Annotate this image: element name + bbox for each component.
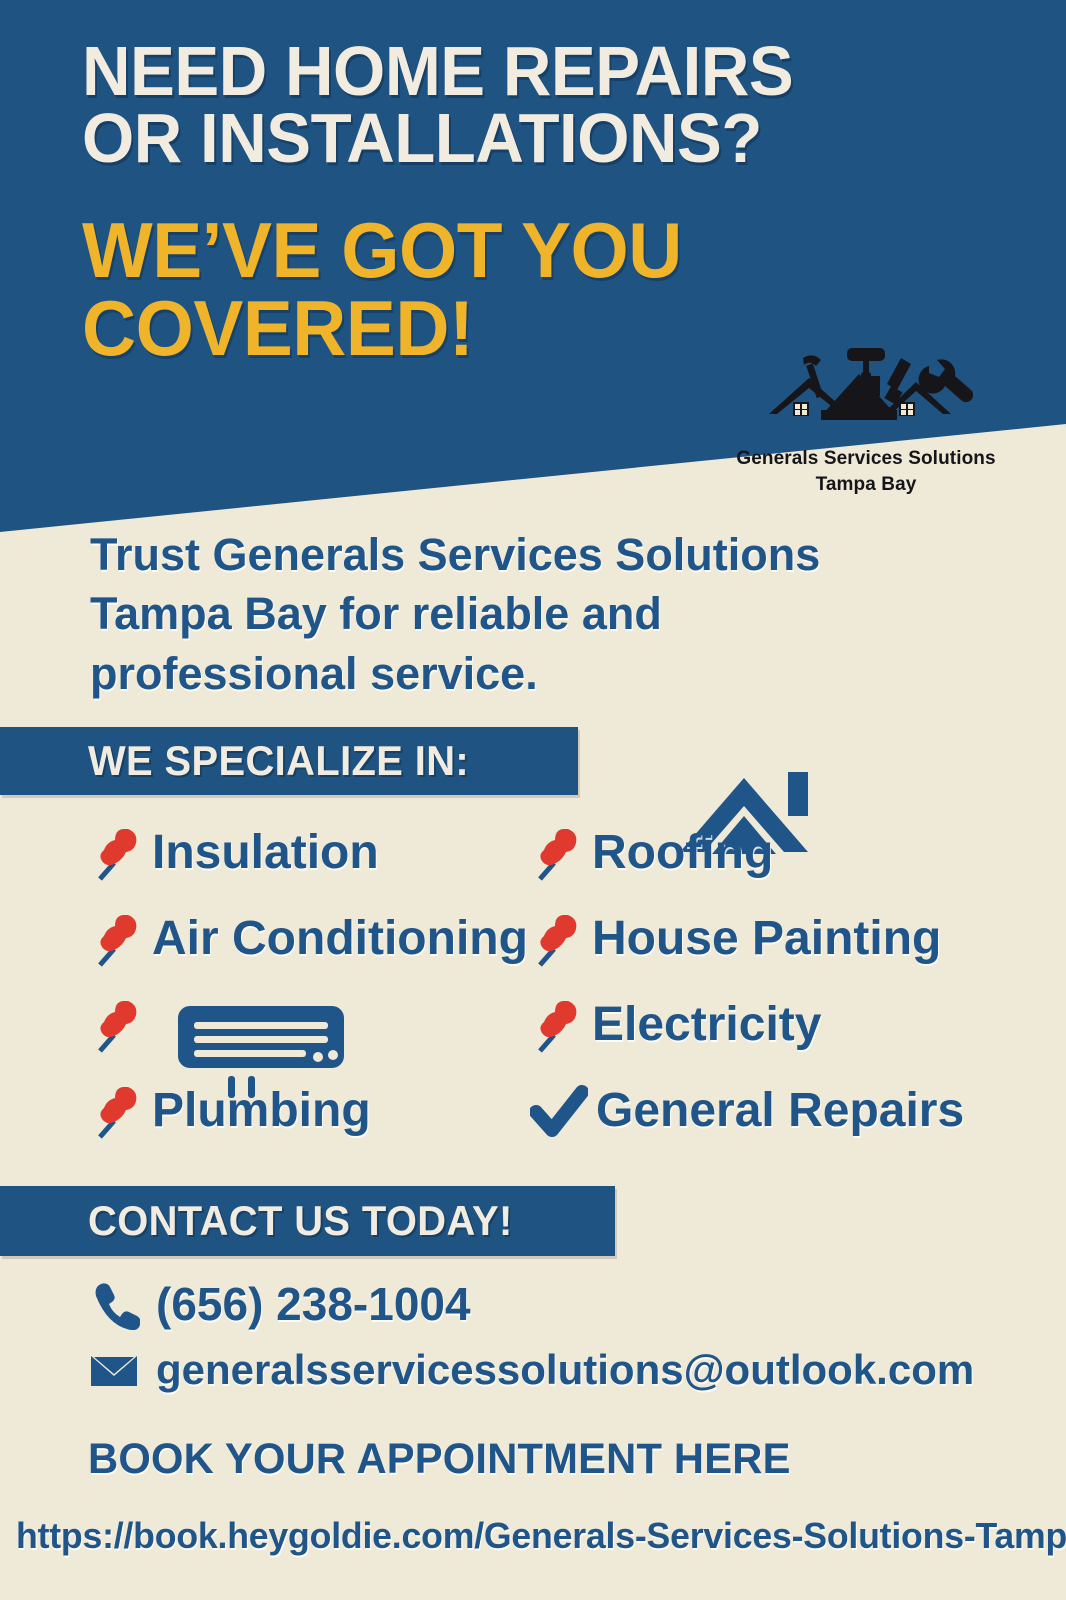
service-label: House Painting — [592, 915, 941, 963]
phone-icon — [88, 1278, 140, 1330]
logo-name-line-2: Tampa Bay — [716, 472, 1016, 498]
contact-details: (656) 238-1004 generalsservicessolutions… — [88, 1278, 974, 1410]
service-label: Insulation — [152, 829, 379, 877]
intro-paragraph: Trust Generals Services Solutions Tampa … — [90, 525, 930, 703]
envelope-icon — [88, 1344, 140, 1396]
headline-line-1: NEED HOME REPAIRS — [82, 38, 946, 105]
specialize-ribbon: WE SPECIALIZE IN: — [0, 727, 578, 795]
contact-email-value: generalsservicessolutions@outlook.com — [156, 1349, 974, 1391]
service-item-house-painting[interactable]: House Painting — [530, 896, 1050, 982]
pushpin-icon — [90, 995, 144, 1055]
headline-block: NEED HOME REPAIRS OR INSTALLATIONS? WE’V… — [82, 38, 982, 367]
service-item-general-repairs[interactable]: General Repairs — [530, 1068, 1050, 1154]
specialize-ribbon-label: WE SPECIALIZE IN: — [88, 737, 469, 785]
book-appointment-heading: BOOK YOUR APPOINTMENT HERE — [88, 1435, 791, 1484]
pushpin-icon — [90, 1081, 144, 1141]
service-item-air-conditioning[interactable]: Air Conditioning — [90, 896, 560, 982]
service-label: Plumbing — [152, 1087, 371, 1135]
service-label: Electricity — [592, 1001, 821, 1049]
services-right-column: Roofing House Painting Electricity — [530, 810, 1050, 1154]
contact-ribbon: CONTACT US TODAY! — [0, 1186, 615, 1256]
booking-url-link[interactable]: https://book.heygoldie.com/Generals-Serv… — [16, 1515, 1066, 1557]
service-item-electricity[interactable]: Electricity — [530, 982, 1050, 1068]
logo-name: Generals Services Solutions Tampa Bay — [716, 446, 1016, 497]
service-item-ac-icon-row[interactable] — [90, 982, 560, 1068]
service-item-insulation[interactable]: Insulation — [90, 810, 560, 896]
headline-line-2: OR INSTALLATIONS? — [82, 105, 946, 172]
contact-phone-value: (656) 238-1004 — [156, 1281, 471, 1327]
pushpin-icon — [530, 995, 584, 1055]
logo-block: Generals Services Solutions Tampa Bay — [716, 340, 1016, 497]
contact-phone-row[interactable]: (656) 238-1004 — [88, 1278, 974, 1330]
contact-ribbon-label: CONTACT US TODAY! — [88, 1197, 513, 1245]
services-left-column: Insulation Air Conditioning — [90, 810, 560, 1154]
pushpin-icon — [90, 909, 144, 969]
contact-email-row[interactable]: generalsservicessolutions@outlook.com — [88, 1344, 974, 1396]
pushpin-icon — [530, 909, 584, 969]
checkmark-icon — [530, 1082, 588, 1140]
service-label: Air Conditioning — [152, 915, 528, 963]
logo-name-line-1: Generals Services Solutions — [716, 446, 1016, 472]
service-label: General Repairs — [596, 1087, 964, 1135]
service-item-roofing[interactable]: Roofing — [530, 810, 1050, 896]
service-item-plumbing[interactable]: Plumbing — [90, 1068, 560, 1154]
pushpin-icon — [90, 823, 144, 883]
house-with-tools-icon — [751, 340, 981, 440]
pushpin-icon — [530, 823, 584, 883]
service-label: Roofing — [592, 829, 773, 877]
flyer-poster: NEED HOME REPAIRS OR INSTALLATIONS? WE’V… — [0, 0, 1066, 1600]
headline-line-3: WE’VE GOT YOU — [82, 211, 946, 289]
